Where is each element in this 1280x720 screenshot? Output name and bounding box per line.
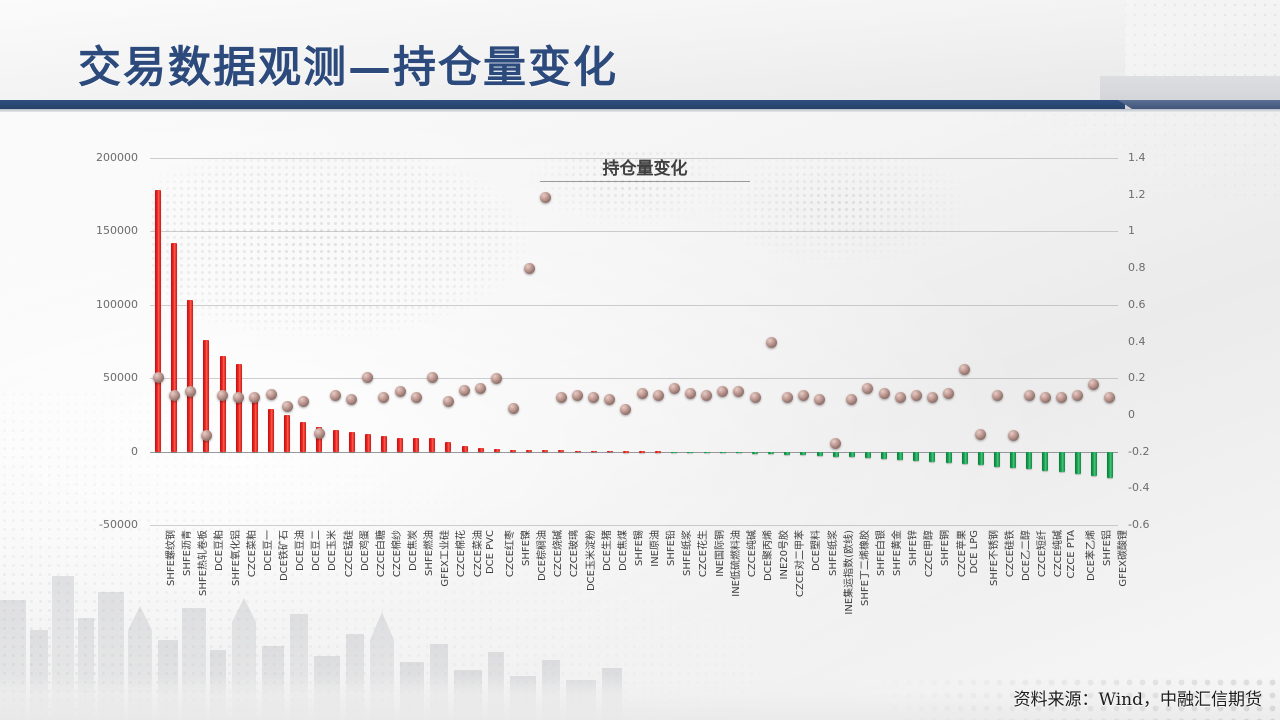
y-axis-right: 1.41.210.80.60.40.20-0.2-0.4-0.6	[1128, 158, 1168, 525]
x-axis-tick-label: DCE鸡蛋	[356, 530, 371, 571]
x-axis-tick-label: SHFE白银	[872, 530, 887, 576]
x-axis-tick-label: DCE豆一	[259, 530, 274, 571]
chart-bar	[220, 356, 226, 451]
chart-marker	[620, 404, 631, 415]
chart-marker	[653, 390, 664, 401]
chart-marker	[911, 390, 922, 401]
chart-marker	[701, 390, 712, 401]
chart-region: 持仓量变化 200000150000100000500000-50000 1.4…	[0, 118, 1280, 678]
x-axis-tick-label: CZCE PTA	[1066, 530, 1077, 579]
chart-bar	[1026, 452, 1032, 470]
y-axis-right-tick: 0.8	[1128, 261, 1162, 274]
chart-bar	[671, 452, 677, 454]
chart-marker	[475, 383, 486, 394]
x-axis-tick-label: DCE乙二醇	[1017, 530, 1032, 581]
x-axis-tick-label: DCE玉米淀粉	[582, 530, 597, 591]
chart-marker	[814, 394, 825, 405]
chart-marker	[427, 372, 438, 383]
chart-bar	[171, 243, 177, 451]
chart-marker	[217, 390, 228, 401]
header-rule-tail	[1118, 100, 1280, 109]
chart-marker	[249, 392, 260, 403]
x-axis-tick-label: CZCE花生	[694, 530, 709, 577]
x-axis-tick-label: SHFE丁二烯橡胶	[856, 530, 871, 606]
chart-bar	[655, 451, 661, 453]
chart-marker	[1008, 430, 1019, 441]
x-axis-tick-label: SHFE铜	[936, 530, 951, 566]
chart-bar	[494, 449, 500, 451]
chart-marker	[733, 386, 744, 397]
chart-bar	[768, 452, 774, 455]
chart-marker	[314, 428, 325, 439]
chart-bar	[349, 432, 355, 452]
chart-bar	[413, 438, 419, 452]
x-axis-tick-label: INE原油	[646, 530, 661, 567]
x-axis-tick-label: SHFE氧化铝	[227, 530, 242, 586]
chart-marker	[959, 364, 970, 375]
x-axis-tick-label: SHFE燃油	[420, 530, 435, 576]
chart-marker	[750, 392, 761, 403]
chart-bar	[994, 452, 1000, 467]
chart-bar	[1107, 452, 1113, 478]
chart-bar	[736, 452, 742, 454]
chart-bar	[881, 452, 887, 459]
chart-bar	[687, 452, 693, 454]
source-note: 资料来源：Wind，中融汇信期货	[1014, 685, 1262, 710]
chart-bar	[865, 452, 871, 458]
x-axis-tick-label: DCE焦煤	[614, 530, 629, 571]
chart-marker	[685, 388, 696, 399]
x-axis-tick-label: INE低硫燃料油	[727, 530, 742, 597]
chart-bar	[849, 452, 855, 458]
chart-marker	[604, 394, 615, 405]
y-axis-left-tick: 0	[94, 445, 138, 458]
chart-marker	[1024, 390, 1035, 401]
chart-marker	[1072, 390, 1083, 401]
chart-bar	[817, 452, 823, 456]
chart-bar	[236, 364, 242, 452]
chart-bar	[1042, 452, 1048, 471]
chart-marker	[862, 383, 873, 394]
chart-marker	[927, 392, 938, 403]
plot-area	[150, 158, 1118, 525]
header-rule	[0, 100, 1125, 109]
chart-bar	[252, 397, 258, 451]
chart-marker	[266, 389, 277, 400]
x-axis-tick-label: SHFE不锈钢	[985, 530, 1000, 586]
x-axis-tick-label: DCE塑料	[807, 530, 822, 571]
x-axis-tick-label: DCE豆粕	[210, 530, 225, 571]
chart-marker	[233, 392, 244, 403]
x-axis-tick-label: SHFE铅	[662, 530, 677, 566]
x-axis-tick-label: INE集运指数(欧线)	[840, 530, 855, 615]
chart-bar	[962, 452, 968, 465]
chart-marker	[588, 392, 599, 403]
x-axis-tick-label: INE国际铜	[711, 530, 726, 577]
y-axis-right-tick: 1	[1128, 224, 1162, 237]
y-axis-left-tick: 100000	[94, 298, 138, 311]
chart-marker	[524, 263, 535, 274]
y-axis-right-tick: -0.6	[1128, 518, 1162, 531]
x-axis-tick-label: SHFE锌	[904, 530, 919, 566]
x-axis-tick-label: SHFE纸浆	[824, 530, 839, 576]
x-axis-tick-label: DCE PVC	[485, 530, 496, 574]
chart-marker	[443, 396, 454, 407]
x-axis-tick-label: DCE LPG	[969, 530, 980, 574]
chart-bar	[284, 415, 290, 452]
chart-marker	[298, 396, 309, 407]
x-axis-tick-label: CZCE甲醇	[920, 530, 935, 577]
chart-bar	[639, 451, 645, 453]
chart-marker	[943, 388, 954, 399]
chart-marker	[782, 392, 793, 403]
x-axis-tick-label: CZCE红枣	[501, 530, 516, 577]
x-axis-tick-label: DCE铁矿石	[275, 530, 290, 581]
y-axis-left-tick: -50000	[94, 518, 138, 531]
chart-marker	[169, 390, 180, 401]
y-axis-right-tick: 0	[1128, 408, 1162, 421]
chart-bar	[1010, 452, 1016, 468]
chart-bar	[752, 452, 758, 454]
x-axis-tick-label: CZCE纯碱	[1049, 530, 1064, 577]
chart-bar	[187, 300, 193, 451]
chart-marker	[572, 390, 583, 401]
chart-bar	[929, 452, 935, 462]
chart-bar	[946, 452, 952, 463]
x-axis-tick-label: CZCE菜油	[469, 530, 484, 577]
chart-marker	[491, 373, 502, 384]
chart-marker	[766, 337, 777, 348]
chart-bar	[542, 450, 548, 452]
x-axis-tick-label: CZCE短纤	[1033, 530, 1048, 577]
chart-marker	[153, 372, 164, 383]
x-axis-labels: SHFE螺纹钢SHFE沥青SHFE热轧卷板DCE豆粕SHFE氧化铝CZCE菜粕D…	[150, 530, 1118, 680]
grid-line	[150, 378, 1118, 379]
chart-marker	[879, 388, 890, 399]
x-axis-tick-label: DCE豆油	[291, 530, 306, 571]
chart-marker	[330, 390, 341, 401]
chart-bar	[268, 409, 274, 452]
x-axis-tick-label: CZCE棉纱	[388, 530, 403, 577]
page-title: 交易数据观测—持仓量变化	[78, 33, 618, 95]
x-axis-tick-label: GFEX碳酸锂	[1114, 530, 1129, 587]
chart-bar	[784, 452, 790, 455]
x-axis-tick-label: CZCE棉花	[452, 530, 467, 577]
chart-bar	[623, 451, 629, 453]
y-axis-left-tick: 150000	[94, 224, 138, 237]
x-axis-tick-label: CZCE硅铁	[1001, 530, 1016, 577]
x-axis-tick-label: CZCE苹果	[953, 530, 968, 577]
chart-bar	[833, 452, 839, 457]
y-axis-left-tick: 50000	[94, 371, 138, 384]
chart-marker	[717, 386, 728, 397]
x-axis-tick-label: DCE豆二	[307, 530, 322, 571]
chart-bar	[1091, 452, 1097, 476]
chart-bar	[300, 422, 306, 452]
x-axis-tick-label: SHFE铝	[1098, 530, 1113, 566]
x-axis-tick-label: CZCE白糖	[372, 530, 387, 577]
y-axis-right-tick: 0.4	[1128, 335, 1162, 348]
chart-marker	[459, 385, 470, 396]
x-axis-tick-label: INE20号胶	[775, 530, 790, 579]
grid-line	[150, 525, 1118, 526]
chart-bar	[478, 448, 484, 451]
chart-marker	[282, 401, 293, 412]
chart-marker	[201, 430, 212, 441]
chart-bar	[333, 430, 339, 451]
chart-marker	[411, 392, 422, 403]
chart-bar	[526, 450, 532, 452]
x-axis-tick-label: CZCE烧碱	[549, 530, 564, 577]
chart-marker	[1104, 392, 1115, 403]
chart-marker	[975, 429, 986, 440]
chart-bar	[913, 452, 919, 461]
chart-bar	[445, 442, 451, 452]
x-axis-tick-label: SHFE沥青	[178, 530, 193, 576]
y-axis-right-tick: 0.6	[1128, 298, 1162, 311]
chart-marker	[1056, 392, 1067, 403]
chart-marker	[378, 392, 389, 403]
slide-header: 交易数据观测—持仓量变化	[0, 0, 1280, 112]
chart-bar	[704, 452, 710, 454]
chart-bar	[510, 450, 516, 452]
chart-bar	[397, 438, 403, 452]
chart-bar	[429, 438, 435, 451]
chart-bar	[591, 451, 597, 453]
chart-bar	[155, 190, 161, 451]
chart-bar	[381, 436, 387, 451]
chart-marker	[798, 390, 809, 401]
x-axis-tick-label: CZCE玻璃	[565, 530, 580, 577]
chart-marker	[508, 403, 519, 414]
chart-marker	[1088, 379, 1099, 390]
header-underline	[0, 109, 1280, 112]
y-axis-left-tick: 200000	[94, 151, 138, 164]
chart-marker	[669, 383, 680, 394]
x-axis-tick-label: CZCE纯碱	[743, 530, 758, 577]
x-axis-tick-label: SHFE锡	[630, 530, 645, 566]
y-axis-right-tick: 1.2	[1128, 188, 1162, 201]
chart-bar	[1059, 452, 1065, 473]
x-axis-tick-label: DCE苯乙烯	[1082, 530, 1097, 581]
chart-marker	[830, 438, 841, 449]
chart-marker	[895, 392, 906, 403]
zero-baseline	[150, 452, 1118, 453]
chart-bar	[897, 452, 903, 460]
x-axis-tick-label: SHFE黄金	[888, 530, 903, 576]
chart-marker	[362, 372, 373, 383]
x-axis-tick-label: SHFE螺纹钢	[162, 530, 177, 586]
x-axis-tick-label: CZCE锰硅	[340, 530, 355, 577]
x-axis-tick-label: SHFE镍	[517, 530, 532, 566]
chart-bar	[462, 446, 468, 452]
chart-bar	[1075, 452, 1081, 475]
y-axis-right-tick: -0.2	[1128, 445, 1162, 458]
chart-marker	[346, 394, 357, 405]
chart-marker	[556, 392, 567, 403]
chart-bar	[800, 452, 806, 456]
x-axis-tick-label: DCE生猪	[598, 530, 613, 571]
y-axis-left: 200000150000100000500000-50000	[94, 158, 138, 525]
chart-marker	[637, 388, 648, 399]
y-axis-right-tick: 0.2	[1128, 371, 1162, 384]
chart-marker	[540, 192, 551, 203]
grid-line	[150, 158, 1118, 159]
chart-marker	[395, 386, 406, 397]
chart-bar	[978, 452, 984, 466]
x-axis-tick-label: DCE棕榈油	[533, 530, 548, 581]
chart-bar	[558, 450, 564, 452]
x-axis-tick-label: CZCE菜粕	[243, 530, 258, 577]
x-axis-tick-label: CZCE对二甲苯	[791, 530, 806, 597]
y-axis-right-tick: -0.4	[1128, 481, 1162, 494]
chart-bar	[575, 451, 581, 453]
x-axis-tick-label: SHFE纸浆	[678, 530, 693, 576]
grid-line	[150, 305, 1118, 306]
x-axis-tick-label: DCE玉米	[323, 530, 338, 571]
chart-bar	[365, 434, 371, 452]
x-axis-tick-label: DCE聚丙烯	[759, 530, 774, 581]
y-axis-right-tick: 1.4	[1128, 151, 1162, 164]
x-axis-tick-label: SHFE热轧卷板	[194, 530, 209, 596]
chart-marker	[992, 390, 1003, 401]
chart-marker	[846, 394, 857, 405]
chart-bar	[720, 452, 726, 454]
x-axis-tick-label: DCE焦炭	[404, 530, 419, 571]
chart-marker	[185, 386, 196, 397]
chart-marker	[1040, 392, 1051, 403]
grid-line	[150, 231, 1118, 232]
x-axis-tick-label: GFEX工业硅	[436, 530, 451, 587]
